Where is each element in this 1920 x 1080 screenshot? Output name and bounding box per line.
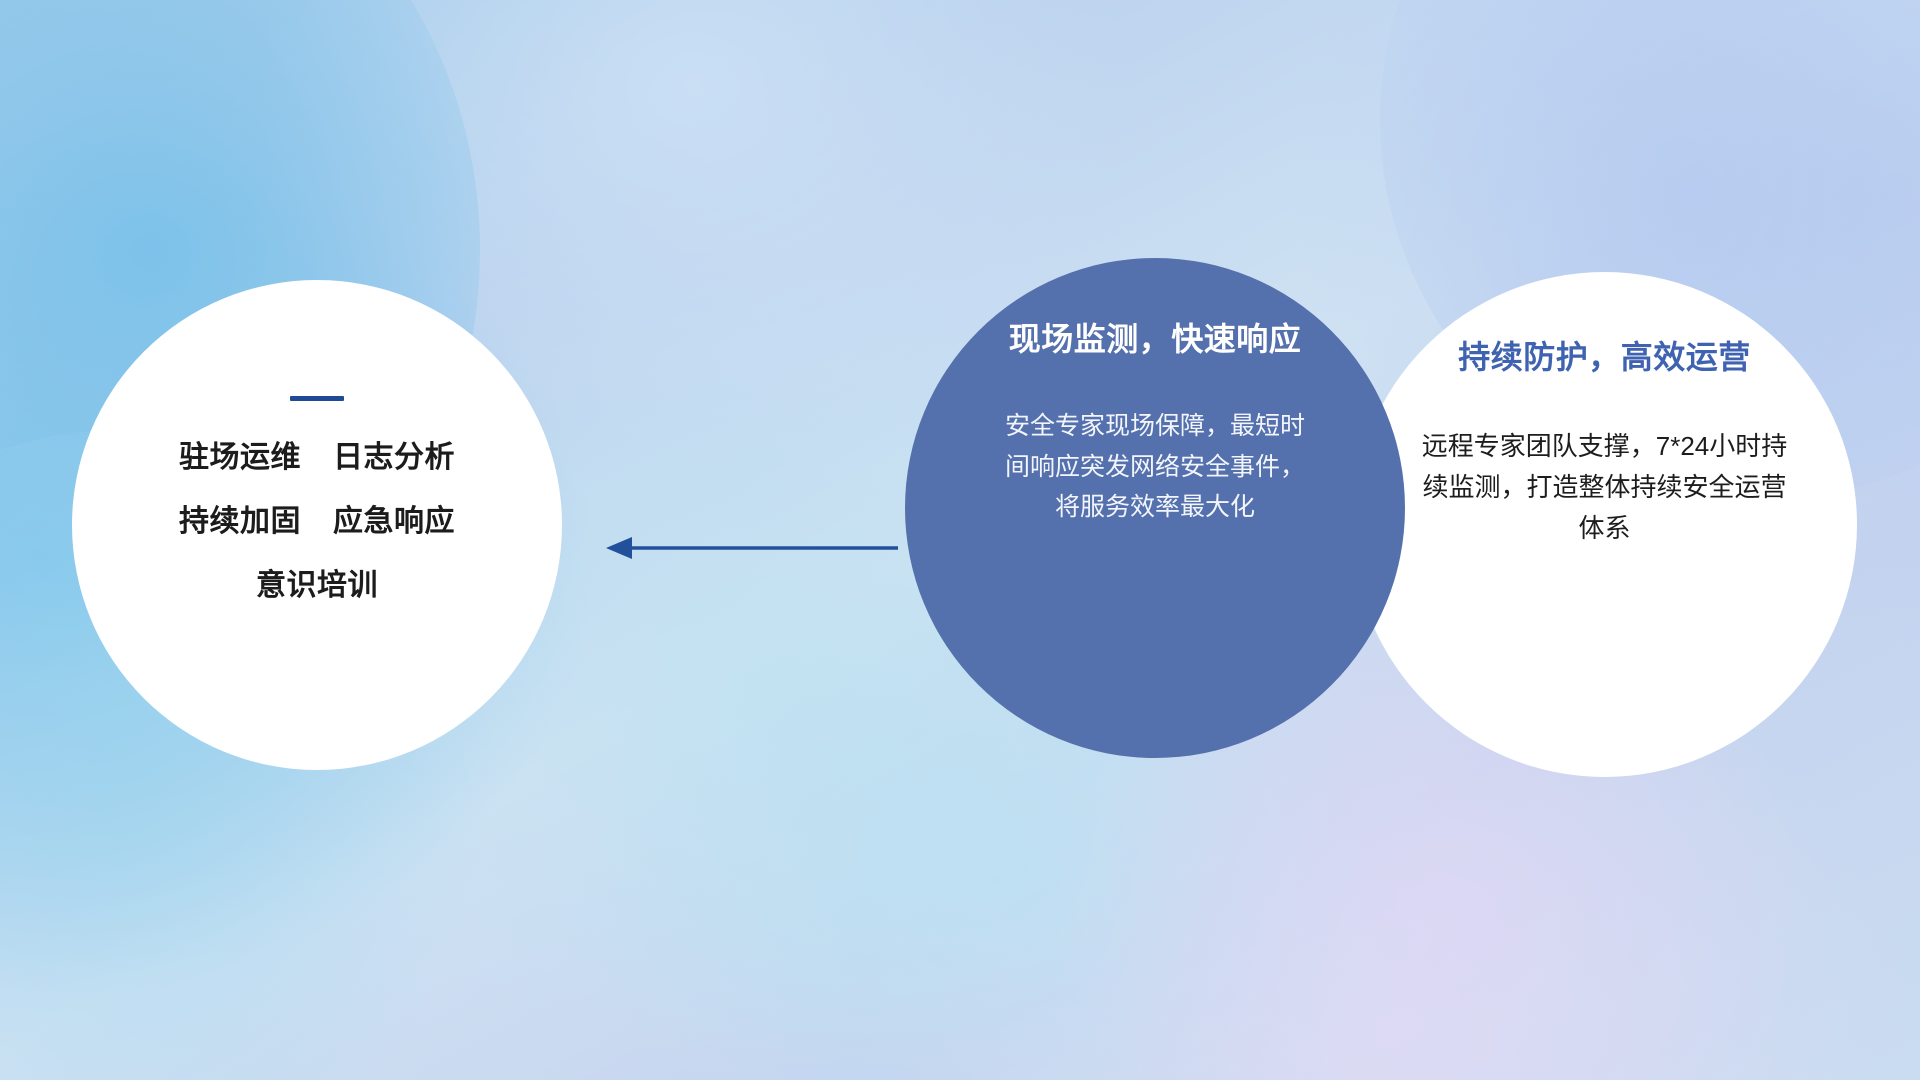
capability-circle-right[interactable]: 持续防护，高效运营 远程专家团队支撑，7*24小时持续监测，打造整体持续安全运营…	[1352, 272, 1857, 777]
circle-middle-body: 安全专家现场保障，最短时间响应突发网络安全事件，将服务效率最大化	[1005, 406, 1305, 528]
capability-circle-left[interactable]: 驻场运维 日志分析 持续加固 应急响应 意识培训	[72, 280, 562, 770]
capability-tag: 持续加固	[179, 507, 301, 537]
capability-tag-row: 驻场运维 日志分析	[179, 443, 455, 473]
circle-middle-title: 现场监测，快速响应	[1009, 314, 1302, 360]
circle-right-body: 远程专家团队支撑，7*24小时持续监测，打造整体持续安全运营体系	[1419, 426, 1791, 549]
capability-tag-row: 意识培训	[179, 571, 455, 601]
capability-tag-list: 驻场运维 日志分析 持续加固 应急响应 意识培训	[179, 443, 455, 601]
circle-right-title: 持续防护，高效运营	[1458, 332, 1751, 378]
capability-tag: 意识培训	[256, 571, 378, 601]
capability-tag: 驻场运维	[179, 443, 301, 473]
capability-tag: 应急响应	[333, 507, 455, 537]
capability-circle-middle[interactable]: 现场监测，快速响应 安全专家现场保障，最短时间响应突发网络安全事件，将服务效率最…	[905, 258, 1405, 758]
capability-tag-row: 持续加固 应急响应	[179, 507, 455, 537]
slide-canvas: 驻场运维 日志分析 持续加固 应急响应 意识培训 持续防护，高效运营 远程专家团…	[0, 0, 1920, 1080]
flow-arrow-left	[600, 520, 900, 576]
arrow-left-icon	[600, 520, 900, 576]
divider-dash-icon	[290, 396, 344, 401]
capability-tag: 日志分析	[333, 443, 455, 473]
